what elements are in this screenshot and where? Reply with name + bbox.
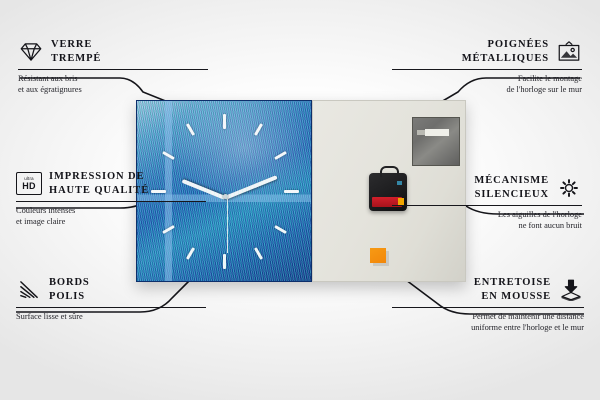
press-down-pad-icon bbox=[558, 279, 584, 301]
callout-header: MÉCANISMESILENCIEUX bbox=[392, 174, 582, 202]
callout-header: ENTRETOISEEN MOUSSE bbox=[392, 276, 584, 304]
diamond-icon bbox=[18, 41, 44, 63]
tick-12 bbox=[223, 114, 226, 129]
callout-title: MÉCANISMESILENCIEUX bbox=[474, 174, 549, 202]
callout-description: Facilite le montagede l'horloge sur le m… bbox=[392, 73, 582, 96]
callout-divider bbox=[18, 69, 208, 70]
tick-5 bbox=[254, 247, 263, 260]
callout-impression-haute-qualite: ultra HD IMPRESSION DEHAUTE QUALITÉ Coul… bbox=[16, 170, 206, 228]
infographic-canvas: VERRETREMPÉ Résistant aux briset aux égr… bbox=[0, 0, 600, 400]
metal-hanger-plate bbox=[412, 117, 460, 166]
clock-hub bbox=[223, 194, 228, 199]
tick-4 bbox=[274, 225, 287, 234]
gear-icon bbox=[556, 177, 582, 199]
callout-title: ENTRETOISEEN MOUSSE bbox=[474, 276, 551, 304]
tick-11 bbox=[186, 123, 195, 136]
callout-description: Résistant aux briset aux égratignures bbox=[18, 73, 208, 96]
callout-poignees-metalliques: POIGNÉESMÉTALLIQUES Facilite le montaged… bbox=[392, 38, 582, 96]
callout-title: POIGNÉESMÉTALLIQUES bbox=[462, 38, 549, 66]
polished-edges-icon bbox=[16, 279, 42, 301]
callout-description: Permet de maintenir une distanceuniforme… bbox=[392, 311, 584, 334]
tick-1 bbox=[254, 123, 263, 136]
tick-2 bbox=[274, 151, 287, 160]
callout-description: Couleurs intenseset image claire bbox=[16, 205, 206, 228]
callout-header: BORDSPOLIS bbox=[16, 276, 206, 304]
callout-title: BORDSPOLIS bbox=[49, 276, 90, 304]
hanger-keyhole-slot bbox=[425, 129, 449, 136]
callout-mecanisme-silencieux: MÉCANISMESILENCIEUX Les aiguilles de l'h… bbox=[392, 174, 582, 232]
callout-divider bbox=[16, 201, 206, 202]
tick-6 bbox=[223, 254, 226, 269]
callout-description: Surface lisse et sûre bbox=[16, 311, 206, 322]
callout-bords-polis: BORDSPOLIS Surface lisse et sûre bbox=[16, 276, 206, 322]
callout-header: ultra HD IMPRESSION DEHAUTE QUALITÉ bbox=[16, 170, 206, 198]
callout-divider bbox=[392, 307, 584, 308]
minute-hand bbox=[224, 175, 277, 200]
tick-3 bbox=[284, 190, 299, 193]
ultra-hd-badge-icon: ultra HD bbox=[16, 172, 42, 195]
picture-hanger-icon bbox=[556, 41, 582, 63]
callout-header: POIGNÉESMÉTALLIQUES bbox=[392, 38, 582, 66]
callout-title: IMPRESSION DEHAUTE QUALITÉ bbox=[49, 170, 149, 198]
ultra-hd-main-text: HD bbox=[22, 182, 36, 191]
callout-divider bbox=[16, 307, 206, 308]
callout-title: VERRETREMPÉ bbox=[51, 38, 101, 66]
foam-spacer-pad bbox=[370, 248, 386, 263]
second-hand bbox=[227, 197, 228, 253]
callout-divider bbox=[392, 205, 582, 206]
tick-10 bbox=[162, 151, 175, 160]
callout-description: Les aiguilles de l'horlogene font aucun … bbox=[392, 209, 582, 232]
tick-7 bbox=[186, 247, 195, 260]
callout-header: VERRETREMPÉ bbox=[18, 38, 208, 66]
callout-divider bbox=[392, 69, 582, 70]
callout-entretoise-en-mousse: ENTRETOISEEN MOUSSE Permet de maintenir … bbox=[392, 276, 584, 334]
callout-verre-trempe: VERRETREMPÉ Résistant aux briset aux égr… bbox=[18, 38, 208, 96]
